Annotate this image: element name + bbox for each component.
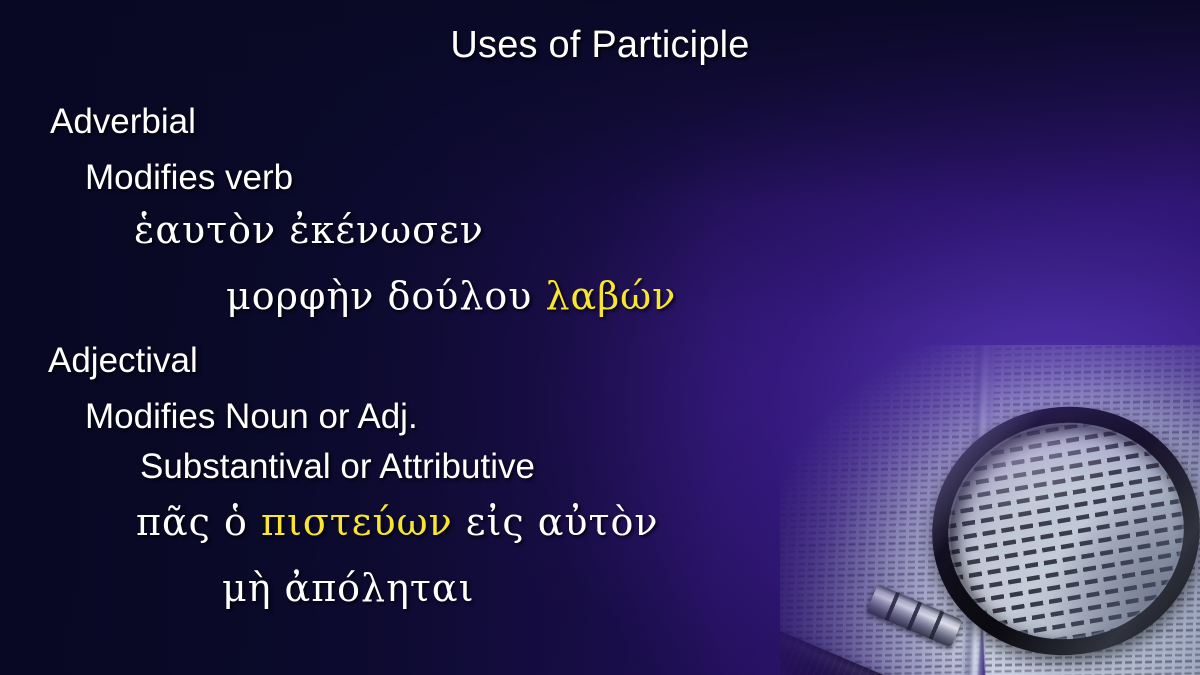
greek-line-3-highlight: πιστεύων xyxy=(261,500,453,544)
greek-line-3-after: εἰς αὐτὸν xyxy=(453,500,659,544)
greek-line-2-highlight: λαβών xyxy=(545,274,676,318)
dictionary-book-photo xyxy=(780,345,1200,675)
bullet-adverbial: Adverbial xyxy=(50,102,196,142)
greek-line-3-before: πᾶς ὁ xyxy=(136,500,261,544)
magnifying-glass-icon xyxy=(916,390,1200,673)
bullet-modifies-verb: Modifies verb xyxy=(85,158,293,198)
slide-title: Uses of Participle xyxy=(0,24,1200,67)
greek-line-2-plain: μορφὴν δούλου xyxy=(226,274,545,318)
greek-line-1: ἑαυτὸν ἐκένωσεν xyxy=(134,208,484,252)
bullet-adjectival: Adjectival xyxy=(48,341,198,381)
greek-line-2: μορφὴν δούλου λαβών xyxy=(226,274,676,318)
greek-line-4: μὴ ἀπόληται xyxy=(222,566,475,610)
bullet-substantival: Substantival or Attributive xyxy=(140,447,535,487)
slide-canvas: Uses of Participle Adverbial Modifies ve… xyxy=(0,0,1200,675)
bullet-modifies-noun: Modifies Noun or Adj. xyxy=(85,397,418,437)
greek-line-3: πᾶς ὁ πιστεύων εἰς αὐτὸν xyxy=(136,500,658,544)
